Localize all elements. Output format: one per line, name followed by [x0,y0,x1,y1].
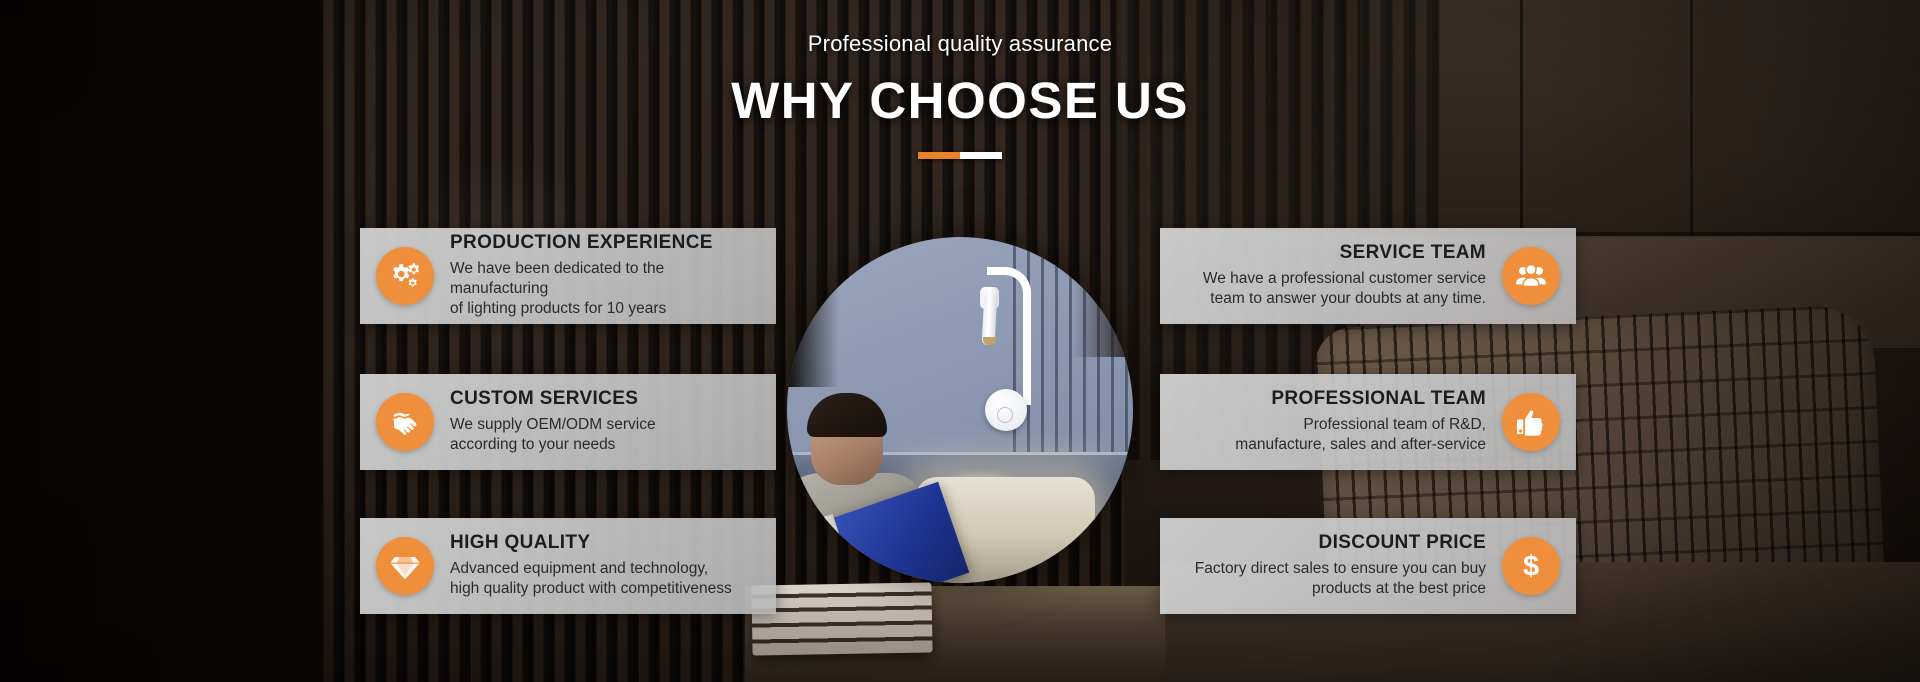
title-divider [918,152,1002,159]
photo-lamp-wall-mount [985,389,1027,431]
diamond-icon [376,537,434,595]
feature-card-description: Professional team of R&D, manufacture, s… [1235,415,1486,455]
photo-lamp-lens [983,337,996,345]
page-header: Professional quality assurance WHY CHOOS… [0,0,1920,159]
header-subtitle: Professional quality assurance [0,0,1920,57]
feature-card-text: CUSTOM SERVICES We supply OEM/ODM servic… [438,389,668,455]
feature-card-description: Advanced equipment and technology, high … [450,559,732,599]
feature-card-professional-team[interactable]: PROFESSIONAL TEAM Professional team of R… [1160,374,1576,470]
feature-card-description: We have been dedicated to the manufactur… [450,259,764,318]
feature-card-title: HIGH QUALITY [450,533,732,554]
photo-shadow-right [1073,237,1133,357]
feature-card-service-team[interactable]: SERVICE TEAM We have a professional cust… [1160,228,1576,324]
divider-segment-orange [918,152,960,159]
feature-card-text: DISCOUNT PRICE Factory direct sales to e… [1183,533,1498,599]
feature-card-description: Factory direct sales to ensure you can b… [1195,559,1486,599]
thumbs-up-icon [1502,393,1560,451]
photo-shadow-left [787,237,839,387]
feature-card-text: PRODUCTION EXPERIENCE We have been dedic… [438,233,776,318]
feature-card-custom-services[interactable]: CUSTOM SERVICES We supply OEM/ODM servic… [360,374,776,470]
gears-icon [376,247,434,305]
feature-card-text: HIGH QUALITY Advanced equipment and tech… [438,533,744,599]
page-title: WHY CHOOSE US [0,57,1920,130]
svg-text:$: $ [1523,550,1539,582]
feature-card-title: CUSTOM SERVICES [450,389,656,410]
center-product-photo [787,237,1133,583]
feature-card-title: PROFESSIONAL TEAM [1235,389,1486,410]
feature-card-text: SERVICE TEAM We have a professional cust… [1191,243,1498,309]
feature-card-discount-price[interactable]: DISCOUNT PRICE Factory direct sales to e… [1160,518,1576,614]
dollar-icon: $ [1502,537,1560,595]
feature-card-high-quality[interactable]: HIGH QUALITY Advanced equipment and tech… [360,518,776,614]
feature-card-title: DISCOUNT PRICE [1195,533,1486,554]
feature-card-title: PRODUCTION EXPERIENCE [450,233,764,254]
feature-card-description: We supply OEM/ODM service according to y… [450,415,656,455]
feature-card-title: SERVICE TEAM [1203,243,1486,264]
feature-card-description: We have a professional customer service … [1203,269,1486,309]
feature-card-text: PROFESSIONAL TEAM Professional team of R… [1223,389,1498,455]
divider-segment-white [960,152,1002,159]
handshake-icon [376,393,434,451]
users-icon [1502,247,1560,305]
feature-card-production-experience[interactable]: PRODUCTION EXPERIENCE We have been dedic… [360,228,776,324]
